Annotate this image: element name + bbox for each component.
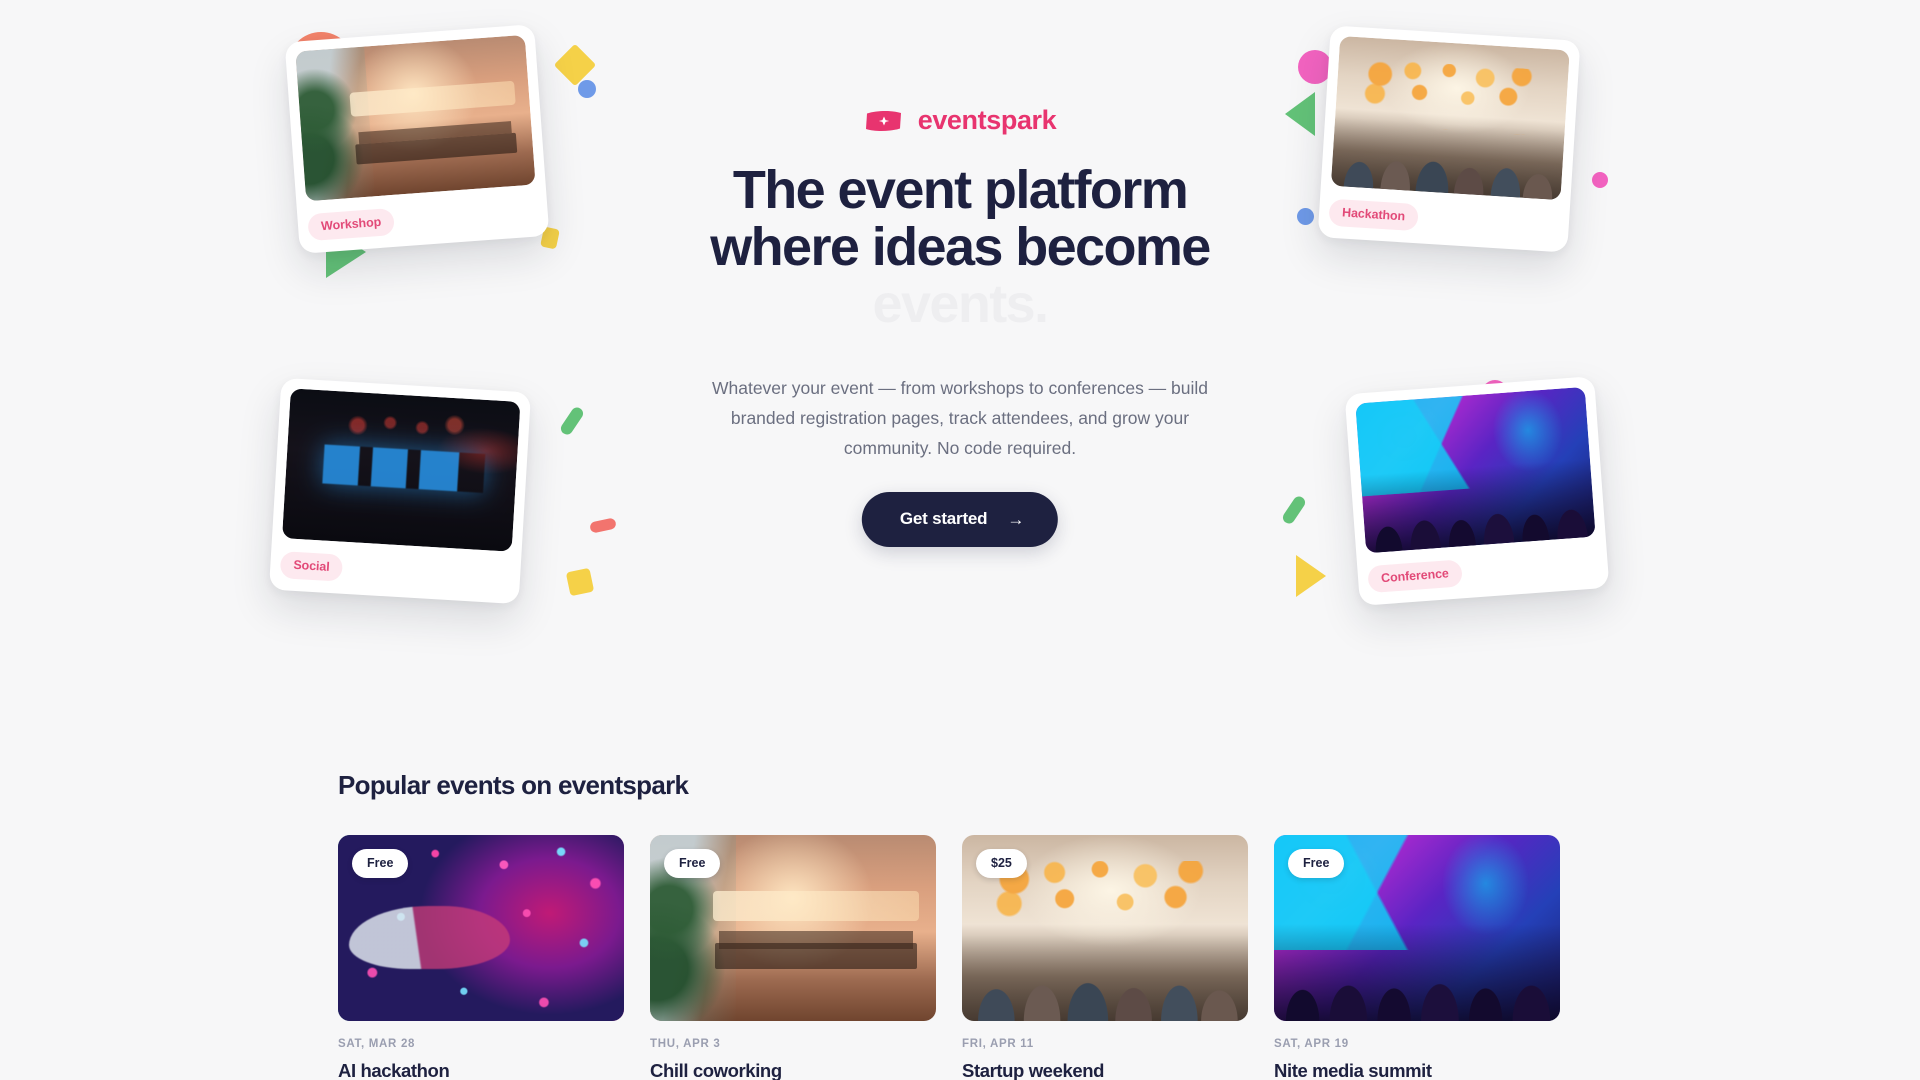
decor-square-yellow [566, 568, 594, 596]
event-date: THU, APR 3 [650, 1038, 936, 1050]
brand-name: eventspark [918, 105, 1057, 136]
floating-card-thumbnail [282, 388, 520, 551]
category-badge: Conference [1367, 559, 1463, 593]
section-title: Popular events on eventspark [338, 770, 1584, 801]
event-thumbnail: Free [1274, 835, 1560, 1021]
floating-card-thumbnail [1355, 387, 1595, 553]
startup-weekend-photo [1331, 36, 1570, 200]
event-card[interactable]: Free SAT, APR 19 Nite media summit [1274, 835, 1560, 1080]
event-thumbnail: Free [338, 835, 624, 1021]
neon-summit-photo [1355, 387, 1595, 553]
dark-neon-room-photo [282, 388, 520, 551]
decor-bar-coral [589, 517, 617, 533]
coworking-loft-photo [295, 35, 535, 201]
get-started-label: Get started [900, 509, 988, 529]
event-date: SAT, APR 19 [1274, 1038, 1560, 1050]
event-title: AI hackathon [338, 1059, 624, 1080]
headline-line-3-ghost: events. [650, 276, 1270, 333]
event-date: SAT, MAR 28 [338, 1038, 624, 1050]
floating-card-thumbnail [295, 35, 535, 201]
get-started-button[interactable]: Get started → [862, 492, 1058, 547]
floating-card-hackathon[interactable]: Hackathon [1318, 25, 1581, 252]
event-card[interactable]: $25 FRI, APR 11 Startup weekend [962, 835, 1248, 1080]
floating-card-workshop[interactable]: Workshop [285, 24, 550, 254]
event-thumbnail: $25 [962, 835, 1248, 1021]
price-badge: Free [1288, 849, 1344, 878]
decor-bar-green [559, 405, 586, 437]
decor-bar-green-conference [1281, 494, 1308, 526]
price-badge: Free [664, 849, 720, 878]
floating-card-social[interactable]: Social [269, 378, 531, 604]
ticket-sparkle-icon [864, 107, 904, 135]
brand-lockup: eventspark [0, 105, 1920, 136]
decor-circle-pink-right-edge [1592, 172, 1608, 188]
event-thumbnail: Free [650, 835, 936, 1021]
page-title: The event platform where ideas become ev… [650, 162, 1270, 333]
headline-line-1: The event platform [650, 162, 1270, 219]
decor-circle-blue-right [1297, 208, 1314, 225]
category-badge: Hackathon [1328, 198, 1419, 231]
hero-section: eventspark The event platform where idea… [0, 0, 1920, 760]
decor-circle-blue [578, 80, 596, 98]
headline-line-2: where ideas become [650, 219, 1270, 276]
price-badge: $25 [976, 849, 1027, 878]
event-card[interactable]: Free THU, APR 3 Chill coworking [650, 835, 936, 1080]
event-date: FRI, APR 11 [962, 1038, 1248, 1050]
landing-page: eventspark The event platform where idea… [0, 0, 1920, 1080]
price-badge: Free [352, 849, 408, 878]
event-title: Startup weekend [962, 1059, 1248, 1080]
category-badge: Workshop [307, 207, 395, 240]
floating-card-conference[interactable]: Conference [1345, 376, 1610, 606]
floating-card-thumbnail [1331, 36, 1570, 200]
event-grid: Free SAT, MAR 28 AI hackathon Free THU, … [338, 835, 1584, 1080]
popular-events-section: Popular events on eventspark Free SAT, M… [338, 770, 1584, 1080]
decor-triangle-yellow [1296, 555, 1326, 597]
hero-subheadline: Whatever your event — from workshops to … [700, 373, 1220, 463]
event-title: Nite media summit [1274, 1059, 1560, 1080]
arrow-right-icon: → [1007, 511, 1024, 528]
category-badge: Social [280, 551, 344, 582]
event-card[interactable]: Free SAT, MAR 28 AI hackathon [338, 835, 624, 1080]
event-title: Chill coworking [650, 1059, 936, 1080]
